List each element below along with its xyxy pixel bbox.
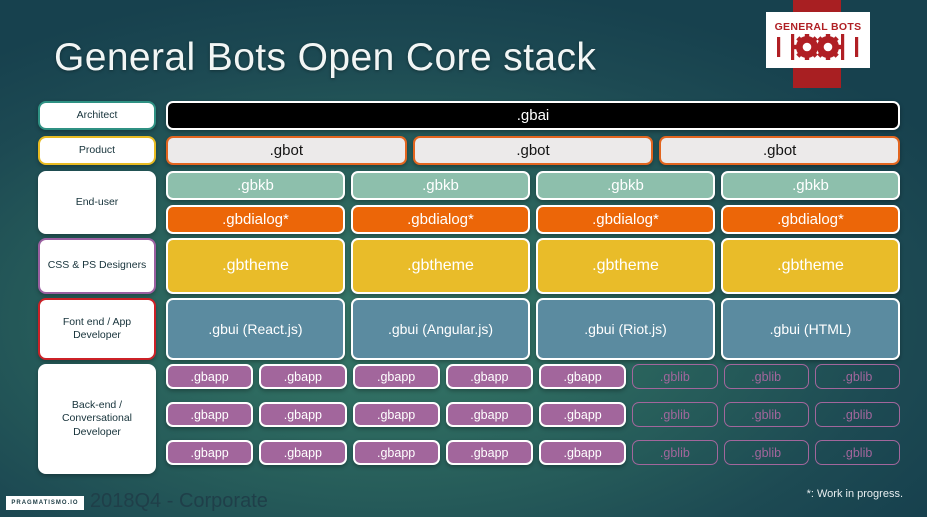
block-gblib[interactable]: .gblib bbox=[815, 402, 900, 427]
block-gbapp[interactable]: .gbapp bbox=[353, 402, 440, 427]
role-label-designers: CSS & PS Designers bbox=[38, 238, 156, 294]
block-gbapp[interactable]: .gbapp bbox=[353, 364, 440, 389]
role-label-architect: Architect bbox=[38, 101, 156, 130]
block-gbot[interactable]: .gbot bbox=[166, 136, 407, 165]
stack-diagram: Architect .gbai Product .gbot .gbot .gbo… bbox=[38, 101, 900, 476]
footer-caption: 2018Q4 - Corporate bbox=[90, 490, 268, 513]
block-gbtheme[interactable]: .gbtheme bbox=[721, 238, 900, 294]
pragmatismo-logo: PRAGMATISMO.IO bbox=[6, 496, 84, 510]
role-label-end-user: End-user bbox=[38, 171, 156, 234]
block-gbapp[interactable]: .gbapp bbox=[166, 364, 253, 389]
block-gbkb[interactable]: .gbkb bbox=[721, 171, 900, 200]
block-gblib[interactable]: .gblib bbox=[632, 402, 717, 427]
block-gbdialog[interactable]: .gbdialog* bbox=[351, 205, 530, 234]
block-gblib[interactable]: .gblib bbox=[632, 364, 717, 389]
block-gbkb[interactable]: .gbkb bbox=[351, 171, 530, 200]
block-gblib[interactable]: .gblib bbox=[632, 440, 717, 465]
block-gblib[interactable]: .gblib bbox=[724, 402, 809, 427]
block-gbkb[interactable]: .gbkb bbox=[536, 171, 715, 200]
role-label-product: Product bbox=[38, 136, 156, 165]
block-gblib[interactable]: .gblib bbox=[724, 364, 809, 389]
block-gbapp[interactable]: .gbapp bbox=[259, 364, 346, 389]
block-gbapp[interactable]: .gbapp bbox=[539, 364, 626, 389]
block-gbdialog[interactable]: .gbdialog* bbox=[166, 205, 345, 234]
role-label-frontend: Font end / App Developer bbox=[38, 298, 156, 360]
block-gbkb[interactable]: .gbkb bbox=[166, 171, 345, 200]
block-gbapp[interactable]: .gbapp bbox=[539, 402, 626, 427]
block-gbui-riot[interactable]: .gbui (Riot.js) bbox=[536, 298, 715, 360]
block-gbapp[interactable]: .gbapp bbox=[259, 402, 346, 427]
role-label-backend: Back-end / Conversational Developer bbox=[38, 364, 156, 474]
block-gbtheme[interactable]: .gbtheme bbox=[536, 238, 715, 294]
block-gbui-html[interactable]: .gbui (HTML) bbox=[721, 298, 900, 360]
block-gbot[interactable]: .gbot bbox=[413, 136, 654, 165]
block-gbot[interactable]: .gbot bbox=[659, 136, 900, 165]
block-gbai[interactable]: .gbai bbox=[166, 101, 900, 130]
block-gblib[interactable]: .gblib bbox=[724, 440, 809, 465]
two-gears-icon bbox=[775, 34, 861, 60]
slide-canvas: GENERAL BOTS bbox=[0, 0, 927, 517]
block-gblib[interactable]: .gblib bbox=[815, 440, 900, 465]
block-gbapp[interactable]: .gbapp bbox=[166, 402, 253, 427]
block-gbdialog[interactable]: .gbdialog* bbox=[536, 205, 715, 234]
pragmatismo-wordmark: PRAGMATISMO.IO bbox=[11, 500, 78, 506]
block-gbapp[interactable]: .gbapp bbox=[446, 440, 533, 465]
footer-note: *: Work in progress. bbox=[807, 488, 903, 500]
block-gbui-angular[interactable]: .gbui (Angular.js) bbox=[351, 298, 530, 360]
page-title: General Bots Open Core stack bbox=[54, 36, 596, 80]
block-gbdialog[interactable]: .gbdialog* bbox=[721, 205, 900, 234]
block-gbapp[interactable]: .gbapp bbox=[166, 440, 253, 465]
block-gbtheme[interactable]: .gbtheme bbox=[351, 238, 530, 294]
block-gbapp[interactable]: .gbapp bbox=[539, 440, 626, 465]
block-gbui-react[interactable]: .gbui (React.js) bbox=[166, 298, 345, 360]
block-gblib[interactable]: .gblib bbox=[815, 364, 900, 389]
logo-wordmark: GENERAL BOTS bbox=[775, 21, 862, 33]
block-gbapp[interactable]: .gbapp bbox=[259, 440, 346, 465]
general-bots-logo: GENERAL BOTS bbox=[766, 12, 870, 68]
block-gbapp[interactable]: .gbapp bbox=[446, 402, 533, 427]
block-gbapp[interactable]: .gbapp bbox=[353, 440, 440, 465]
block-gbapp[interactable]: .gbapp bbox=[446, 364, 533, 389]
block-gbtheme[interactable]: .gbtheme bbox=[166, 238, 345, 294]
